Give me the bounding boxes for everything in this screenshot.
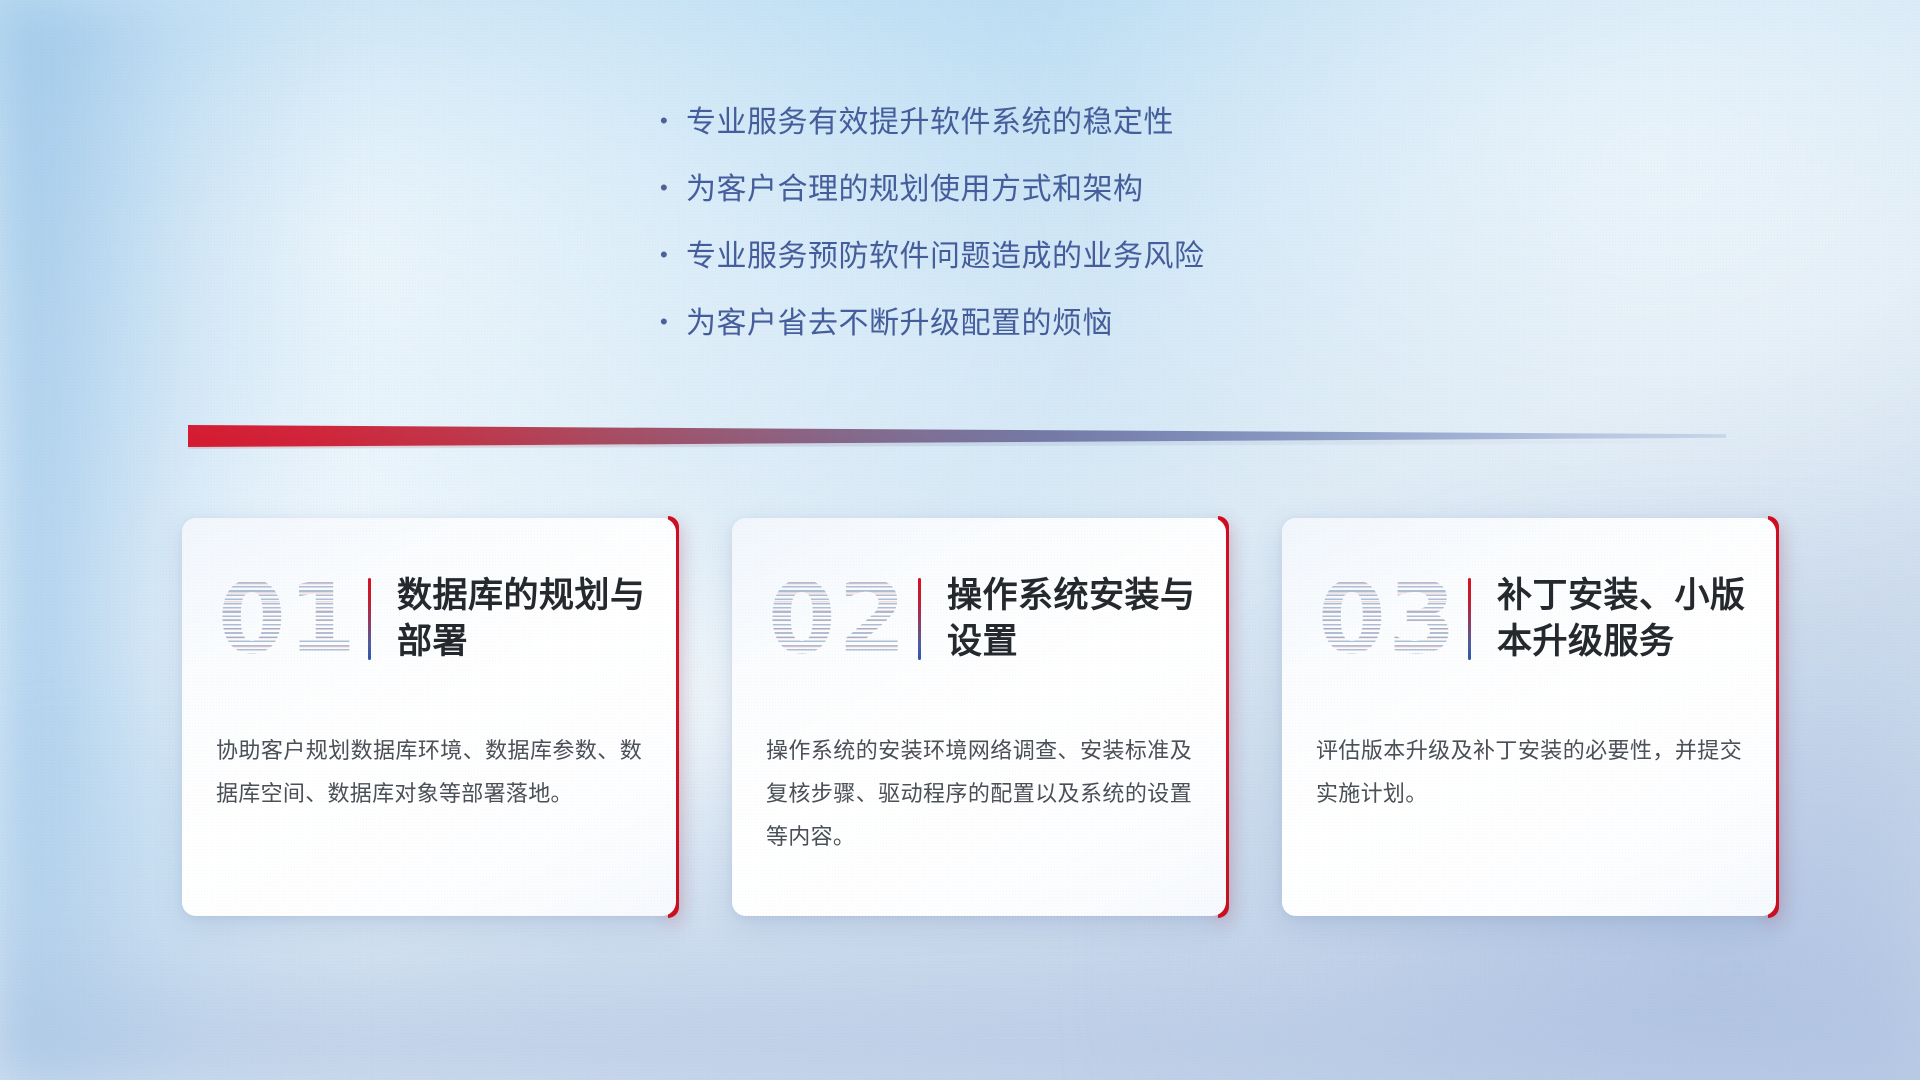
- bullet-dot-icon: •: [660, 244, 686, 266]
- bullet-text-3: 专业服务预防软件问题造成的业务风险: [686, 239, 1205, 275]
- bullet-dot-icon: •: [660, 177, 686, 199]
- bullet-text-4: 为客户省去不断升级配置的烦恼: [686, 306, 1113, 342]
- bullet-text-1: 专业服务有效提升软件系统的稳定性: [686, 105, 1174, 141]
- service-card-02[interactable]: 02 02 操作系统安装与设置 操作系统的安装环境网络调查、安装标准及复核步骤、…: [732, 518, 1226, 916]
- benefits-bullet-list: • 专业服务有效提升软件系统的稳定性 • 为客户合理的规划使用方式和架构 • 专…: [660, 105, 1560, 342]
- service-card-01[interactable]: 01 01 数据库的规划与部署 协助客户规划数据库环境、数据库参数、数据库空间、…: [182, 518, 676, 916]
- bullet-text-2: 为客户合理的规划使用方式和架构: [686, 172, 1144, 208]
- card-number-glyph-tint: 01: [214, 565, 362, 673]
- bullet-item-2: • 为客户合理的规划使用方式和架构: [660, 172, 1560, 208]
- section-divider: [188, 425, 1726, 447]
- card-number-watermark: 01 01: [214, 565, 362, 673]
- card-title: 操作系统安装与设置: [947, 573, 1197, 665]
- card-header: 02 02 操作系统安装与设置: [732, 518, 1226, 720]
- service-card-row: 01 01 数据库的规划与部署 协助客户规划数据库环境、数据库参数、数据库空间、…: [182, 518, 1776, 916]
- card-title-divider-bar: [1468, 578, 1471, 660]
- bullet-item-4: • 为客户省去不断升级配置的烦恼: [660, 306, 1560, 342]
- service-card-03[interactable]: 03 03 补丁安装、小版本升级服务 评估版本升级及补丁安装的必要性，并提交实施…: [1282, 518, 1776, 916]
- card-body-text: 评估版本升级及补丁安装的必要性，并提交实施计划。: [1316, 730, 1742, 816]
- card-number-glyph-tint: 02: [764, 565, 912, 673]
- card-title: 补丁安装、小版本升级服务: [1497, 573, 1759, 665]
- card-title-divider-bar: [368, 578, 371, 660]
- card-title-divider-bar: [918, 578, 921, 660]
- card-header: 03 03 补丁安装、小版本升级服务: [1282, 518, 1776, 720]
- card-number-watermark: 02 02: [764, 565, 912, 673]
- card-title: 数据库的规划与部署: [397, 573, 647, 665]
- card-number-glyph-tint: 03: [1314, 565, 1462, 673]
- bullet-item-3: • 专业服务预防软件问题造成的业务风险: [660, 239, 1560, 275]
- card-number-watermark: 03 03: [1314, 565, 1462, 673]
- card-body-text: 协助客户规划数据库环境、数据库参数、数据库空间、数据库对象等部署落地。: [216, 730, 642, 816]
- bullet-dot-icon: •: [660, 110, 686, 132]
- card-header: 01 01 数据库的规划与部署: [182, 518, 676, 720]
- card-body-text: 操作系统的安装环境网络调查、安装标准及复核步骤、驱动程序的配置以及系统的设置等内…: [766, 730, 1192, 859]
- bullet-item-1: • 专业服务有效提升软件系统的稳定性: [660, 105, 1560, 141]
- bullet-dot-icon: •: [660, 311, 686, 333]
